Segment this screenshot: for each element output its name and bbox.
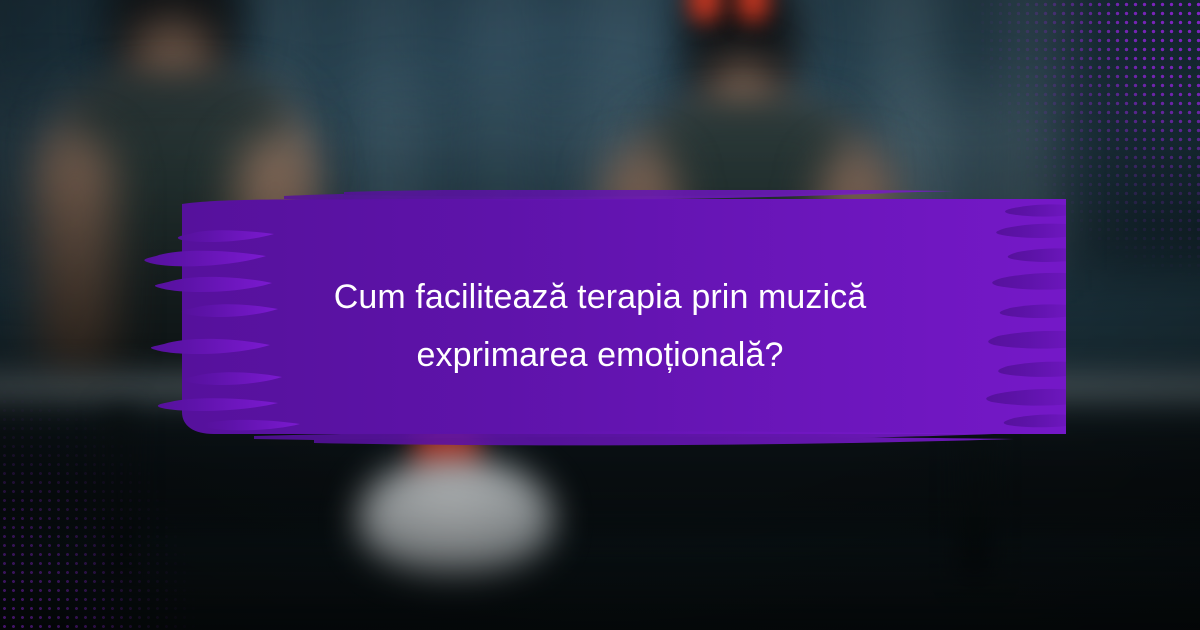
person-left-arm-left — [36, 136, 114, 376]
social-share-card: Cum facilitează terapia prin muzică expr… — [0, 0, 1200, 630]
headline-text: Cum facilitează terapia prin muzică expr… — [190, 268, 1010, 384]
floor-shadow — [0, 550, 1200, 630]
